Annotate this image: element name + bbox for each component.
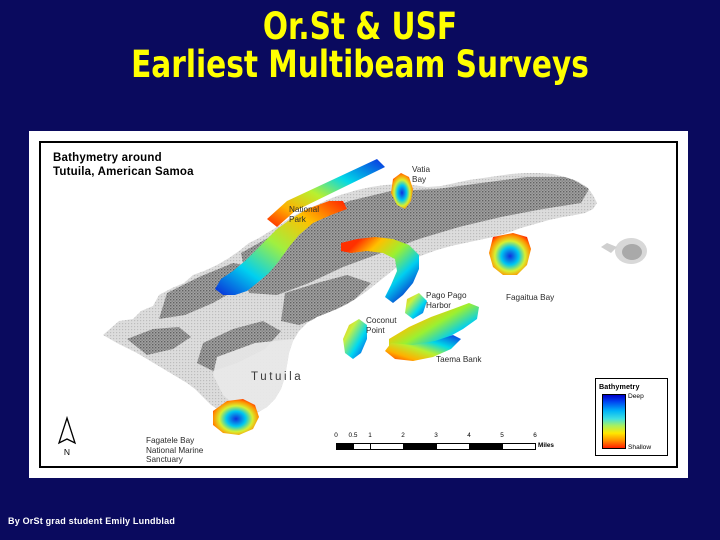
footer-credit: By OrSt grad student Emily Lundblad bbox=[8, 516, 175, 526]
bathy-patch-vatia-bay bbox=[391, 173, 413, 209]
place-label-national-park: National Park bbox=[289, 205, 319, 224]
scalebar-unit-label: Miles bbox=[538, 442, 554, 449]
legend-title: Bathymetry bbox=[599, 382, 640, 391]
scalebar-segment bbox=[437, 444, 470, 449]
place-label-fagaitua-bay: Fagaitua Bay bbox=[506, 293, 554, 303]
place-label-fagatele-bay: Fagatele Bay National Marine Sanctuary bbox=[146, 436, 203, 465]
tutuila-island-hillshade bbox=[41, 143, 676, 466]
bathy-patch-nw-track bbox=[267, 159, 385, 227]
scalebar-tick-2: 2 bbox=[401, 432, 405, 439]
map-image-panel: Bathymetry around Tutuila, American Samo… bbox=[29, 131, 688, 478]
place-label-taema-bank: Taema Bank bbox=[436, 355, 482, 365]
map-scalebar: 0 0.5 1 2 3 4 5 6 bbox=[336, 432, 548, 454]
legend-colorbar-gradient bbox=[603, 395, 625, 448]
bathy-patch-fagatele-bay bbox=[213, 399, 259, 435]
scalebar-tick-6: 6 bbox=[533, 432, 537, 439]
map-frame: Bathymetry around Tutuila, American Samo… bbox=[39, 141, 678, 468]
scalebar-tick-labels: 0 0.5 1 2 3 4 5 6 bbox=[336, 432, 548, 442]
scalebar-tick-3: 3 bbox=[434, 432, 438, 439]
bathy-patch-taema-bank-north bbox=[405, 293, 427, 319]
slide-title: Or.St & USF Earliest Multibeam Surveys bbox=[0, 8, 720, 83]
bathy-patch-coconut-point bbox=[343, 319, 367, 359]
map-canvas: Bathymetry around Tutuila, American Samo… bbox=[41, 143, 676, 466]
offshore-islet bbox=[601, 238, 647, 264]
title-line-1: Or.St & USF bbox=[72, 8, 648, 46]
scalebar-segment bbox=[354, 444, 371, 449]
scalebar-tick-4: 4 bbox=[467, 432, 471, 439]
place-label-coconut-point: Coconut Point bbox=[366, 316, 397, 335]
map-title: Bathymetry around Tutuila, American Samo… bbox=[53, 151, 194, 179]
bathy-patch-taema-bank bbox=[389, 303, 479, 351]
bathy-patch-fagaitua-bay bbox=[489, 233, 531, 275]
place-label-vatia-bay: Vatia Bay bbox=[412, 165, 430, 184]
slide-canvas: Or.St & USF Earliest Multibeam Surveys bbox=[0, 0, 720, 540]
north-arrow-icon bbox=[55, 416, 79, 446]
scalebar-tick-1: 1 bbox=[368, 432, 372, 439]
scalebar-segment bbox=[371, 444, 404, 449]
scalebar-tick-0-5: 0.5 bbox=[349, 432, 358, 439]
north-arrow-label: N bbox=[55, 447, 79, 457]
legend-colorbar bbox=[602, 394, 626, 449]
scalebar-segment bbox=[404, 444, 437, 449]
legend-deep-label: Deep bbox=[628, 393, 644, 400]
north-arrow: N bbox=[55, 416, 79, 456]
bathymetry-legend: Bathymetry bbox=[595, 378, 668, 456]
scalebar-segment bbox=[337, 444, 354, 449]
scalebar-tick-0: 0 bbox=[334, 432, 338, 439]
place-label-pago-pago-harbor: Pago Pago Harbor bbox=[426, 291, 467, 310]
scalebar-bar bbox=[336, 443, 536, 450]
scalebar-segment bbox=[503, 444, 536, 449]
legend-shallow-label: Shallow bbox=[628, 444, 651, 451]
bathy-patch-national-park bbox=[215, 201, 347, 295]
scalebar-tick-5: 5 bbox=[500, 432, 504, 439]
island-label-tutuila: Tutuila bbox=[251, 371, 303, 383]
bathy-patch-pago-pago-harbor bbox=[341, 237, 419, 303]
scalebar-segment bbox=[470, 444, 503, 449]
title-line-2: Earliest Multibeam Surveys bbox=[72, 46, 648, 84]
